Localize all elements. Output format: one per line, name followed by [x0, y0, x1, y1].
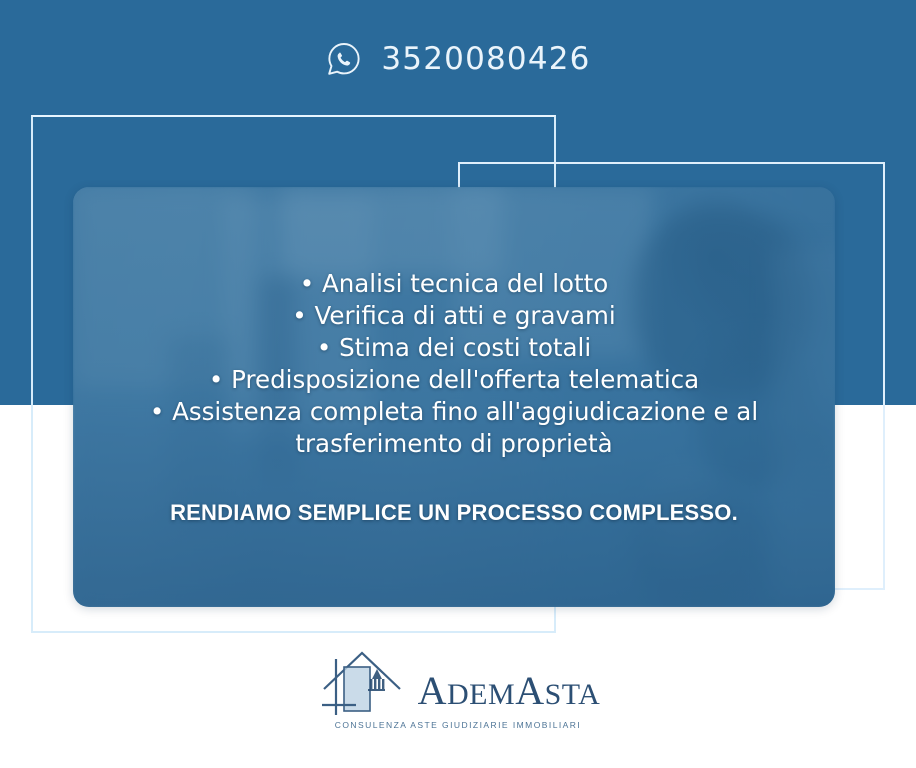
list-item: Stima dei costi totali — [134, 332, 774, 364]
logo-word-a2: A — [515, 668, 544, 713]
contact-header: 3520080426 — [0, 32, 916, 86]
logo-word-a1: A — [418, 668, 447, 713]
list-item: Verifica di atti e gravami — [134, 300, 774, 332]
logo-word-dem: DEM — [447, 678, 515, 711]
house-logo-icon — [316, 645, 412, 717]
brand-logo[interactable]: ADEMASTA CONSULENZA ASTE GIUDIZIARIE IMM… — [0, 645, 916, 755]
service-bullet-list: Analisi tecnica del lotto Verifica di at… — [134, 268, 774, 460]
list-item: Analisi tecnica del lotto — [134, 268, 774, 300]
list-item: Assistenza completa fino all'aggiudicazi… — [134, 396, 774, 460]
phone-number[interactable]: 3520080426 — [381, 44, 590, 75]
logo-lockup: ADEMASTA — [316, 645, 601, 717]
card-content: Analisi tecnica del lotto Verifica di at… — [73, 187, 835, 607]
logo-tagline: CONSULENZA ASTE GIUDIZIARIE IMMOBILIARI — [335, 720, 581, 730]
poster-canvas: 3520080426 Analisi tecnica del lotto Ver… — [0, 0, 916, 768]
content-card: Analisi tecnica del lotto Verifica di at… — [73, 187, 835, 607]
whatsapp-icon[interactable] — [325, 40, 363, 78]
logo-word-sta: STA — [545, 678, 601, 711]
list-item: Predisposizione dell'offerta telematica — [134, 364, 774, 396]
tagline-text: RENDIAMO SEMPLICE UN PROCESSO COMPLESSO. — [170, 500, 738, 526]
logo-wordmark: ADEMASTA — [418, 669, 601, 717]
